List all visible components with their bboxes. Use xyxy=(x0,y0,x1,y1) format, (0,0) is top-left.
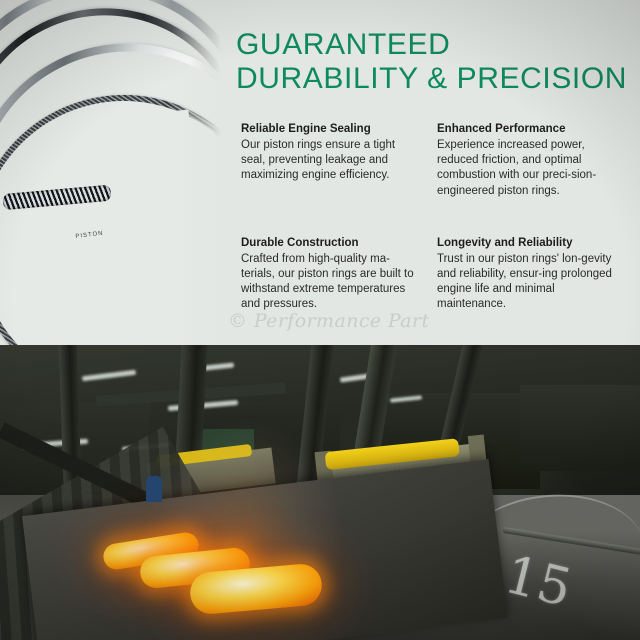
feature-body: Experience increased power, reduced fric… xyxy=(437,138,617,199)
factory-worker xyxy=(146,476,162,502)
marketing-banner: PISTON TOP GUARANTEED DURABILITY & PRECI… xyxy=(0,0,640,640)
headline-line-1: GUARANTEED xyxy=(236,28,450,61)
machinery-silhouette xyxy=(520,385,640,471)
feature-title: Longevity and Reliability xyxy=(437,236,617,251)
feature-card-longevity-and-reliability: Longevity and Reliability Trust in our p… xyxy=(437,236,633,313)
watermark: © Performance Part xyxy=(228,310,488,334)
headline-line-2: DURABILITY & PRECISION xyxy=(236,62,632,96)
piston-ring-product-image: PISTON TOP xyxy=(0,0,232,345)
feature-row: Reliable Engine Sealing Our piston rings… xyxy=(241,122,633,199)
feature-card-reliable-engine-sealing: Reliable Engine Sealing Our piston rings… xyxy=(241,122,437,199)
feature-title: Reliable Engine Sealing xyxy=(241,122,421,137)
floor-chalk-number: 15 xyxy=(500,549,577,615)
feature-card-enhanced-performance: Enhanced Performance Experience increase… xyxy=(437,122,633,199)
feature-body: Crafted from high-quality ma-terials, ou… xyxy=(241,252,421,313)
feature-grid: Reliable Engine Sealing Our piston rings… xyxy=(241,122,633,313)
page-title: GUARANTEED DURABILITY & PRECISION xyxy=(236,28,632,96)
feature-title: Enhanced Performance xyxy=(437,122,617,137)
feature-body: Trust in our piston rings' lon-gevity an… xyxy=(437,252,617,313)
top-section: PISTON TOP GUARANTEED DURABILITY & PRECI… xyxy=(0,0,640,345)
feature-title: Durable Construction xyxy=(241,236,421,251)
photo-edge-fade xyxy=(172,0,232,345)
feature-body: Our piston rings ensure a tight seal, pr… xyxy=(241,138,421,184)
feature-card-durable-construction: Durable Construction Crafted from high-q… xyxy=(241,236,437,313)
feature-row: Durable Construction Crafted from high-q… xyxy=(241,236,633,313)
